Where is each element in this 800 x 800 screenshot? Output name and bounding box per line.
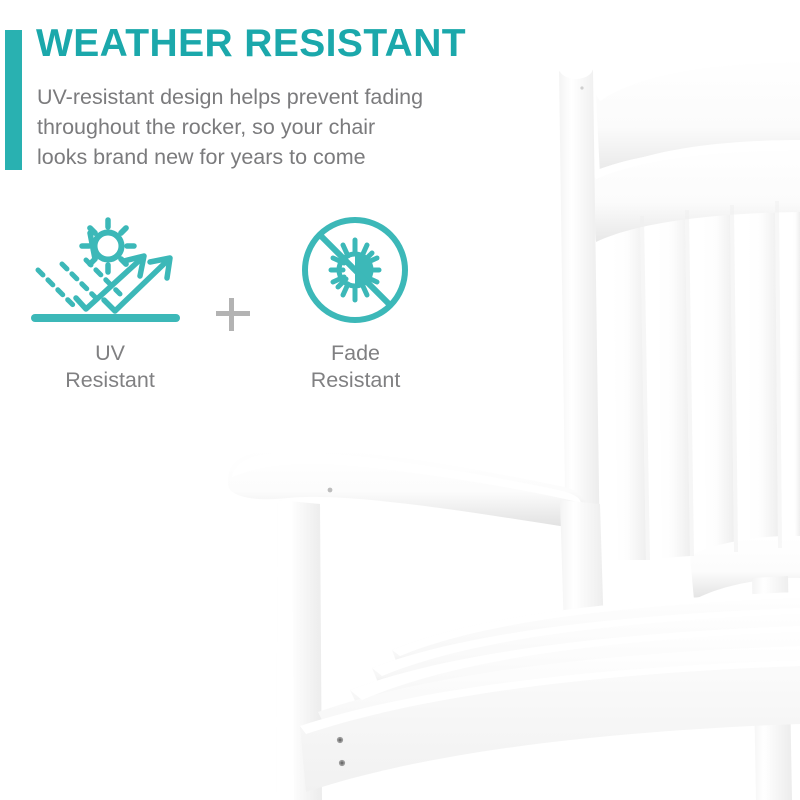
plus-sign-icon	[214, 295, 252, 333]
feature-fade-label-line-1: Fade	[263, 340, 448, 367]
description-line-3: looks brand new for years to come	[37, 142, 537, 172]
accent-bar	[5, 30, 22, 170]
description-text: UV-resistant design helps prevent fading…	[37, 82, 537, 172]
chair-rear-post-left	[559, 57, 600, 562]
feature-fade-resistant: Fade Resistant	[263, 212, 448, 394]
chair-seat-apron	[300, 660, 800, 792]
feature-uv-label-line-2: Resistant	[20, 367, 200, 394]
feature-uv-label-line-1: UV	[20, 340, 200, 367]
marketing-feature-slide: WEATHER RESISTANT UV-resistant design he…	[0, 0, 800, 800]
page-title: WEATHER RESISTANT	[36, 23, 466, 66]
feature-fade-label: Fade Resistant	[263, 340, 448, 394]
feature-uv-label: UV Resistant	[20, 340, 200, 394]
feature-fade-label-line-2: Resistant	[263, 367, 448, 394]
fade-resistant-icon	[263, 212, 448, 330]
feature-uv-resistant: UV Resistant	[20, 212, 200, 394]
description-line-1: UV-resistant design helps prevent fading	[37, 82, 537, 112]
uv-resistant-icon	[20, 212, 200, 330]
chair-back-slats	[612, 198, 800, 560]
description-line-2: throughout the rocker, so your chair	[37, 112, 537, 142]
